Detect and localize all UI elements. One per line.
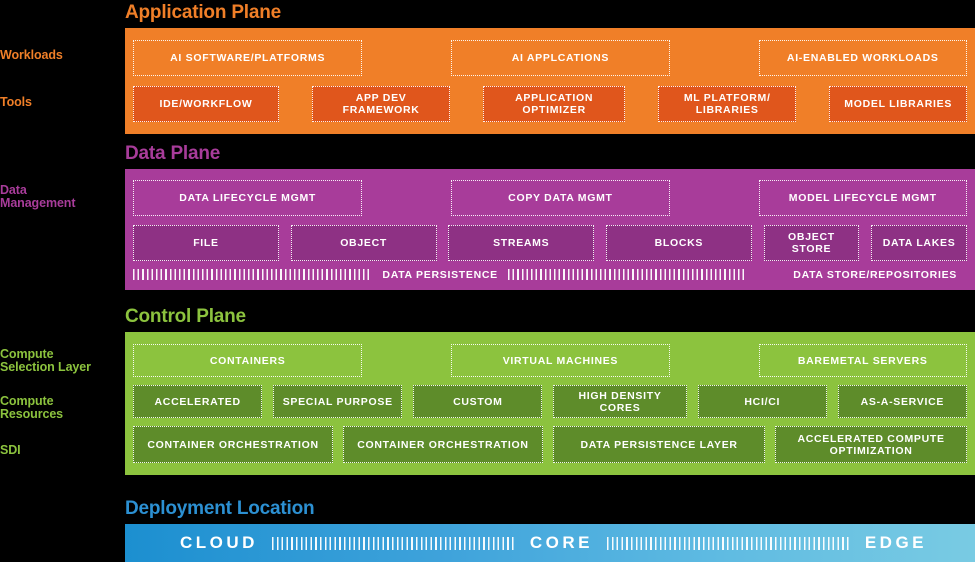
sdi-box-4[interactable]: ACCELERATED COMPUTE OPTIMIZATION <box>775 426 967 463</box>
deployment-location-title: Deployment Location <box>125 498 314 520</box>
compute-resource-box-6[interactable]: AS-A-SERVICE <box>838 385 967 418</box>
rail-label-compute-resources: Compute Resources <box>0 395 63 421</box>
compute-selection-box-2[interactable]: VIRTUAL MACHINES <box>451 344 670 377</box>
control-plane-title: Control Plane <box>125 306 246 328</box>
tool-box-1[interactable]: IDE/WORKFLOW <box>133 86 279 122</box>
data-plane-body: DATA LIFECYCLE MGMTCOPY DATA MGMTMODEL L… <box>125 169 975 290</box>
compute-resource-box-1[interactable]: ACCELERATED <box>133 385 262 418</box>
deployment-location-edge: EDGE <box>851 533 975 553</box>
footer-label-data-store-repositories: DATA STORE/REPOSITORIES <box>747 269 967 281</box>
rail-label-compute-selection-layer: Compute Selection Layer <box>0 348 91 374</box>
sdi-box-2[interactable]: CONTAINER ORCHESTRATION <box>343 426 543 463</box>
workload-box-1[interactable]: AI SOFTWARE/PLATFORMS <box>133 40 362 76</box>
data-management-box-2[interactable]: COPY DATA MGMT <box>451 180 670 216</box>
compute-resource-box-4[interactable]: HIGH DENSITY CORES <box>553 385 686 418</box>
rail-label-tools: Tools <box>0 96 32 109</box>
rail-label-workloads: Workloads <box>0 49 63 62</box>
sdi-row: CONTAINER ORCHESTRATIONCONTAINER ORCHEST… <box>133 426 967 463</box>
compute-selection-box-1[interactable]: CONTAINERS <box>133 344 362 377</box>
compute-selection-row: CONTAINERSVIRTUAL MACHINESBAREMETAL SERV… <box>133 344 967 377</box>
compute-resource-box-2[interactable]: SPECIAL PURPOSE <box>273 385 402 418</box>
tick-rule-core-edge-icon <box>607 537 851 550</box>
data-store-box-1[interactable]: FILE <box>133 225 279 261</box>
control-plane-body: CONTAINERSVIRTUAL MACHINESBAREMETAL SERV… <box>125 332 975 475</box>
data-plane-footer: DATA PERSISTENCE DATA STORE/REPOSITORIES <box>133 263 967 286</box>
rail-label-data-management: Data Management <box>0 184 75 210</box>
deployment-location-cloud: CLOUD <box>125 533 272 553</box>
data-store-box-4[interactable]: BLOCKS <box>606 225 752 261</box>
compute-selection-box-3[interactable]: BAREMETAL SERVERS <box>759 344 968 377</box>
tool-box-4[interactable]: ML PLATFORM/ LIBRARIES <box>658 86 796 122</box>
tick-rule-left-icon <box>133 269 372 280</box>
tick-rule-middle-icon <box>508 269 747 280</box>
compute-resource-box-5[interactable]: HCI/CI <box>698 385 827 418</box>
deployment-location-bar: CLOUD CORE EDGE <box>125 524 975 562</box>
data-store-box-2[interactable]: OBJECT <box>291 225 437 261</box>
data-store-box-3[interactable]: STREAMS <box>448 225 594 261</box>
application-plane-title: Application Plane <box>125 2 281 24</box>
data-management-row: DATA LIFECYCLE MGMTCOPY DATA MGMTMODEL L… <box>133 180 967 216</box>
data-store-box-6[interactable]: DATA LAKES <box>871 225 967 261</box>
workload-box-2[interactable]: AI APPLCATIONS <box>451 40 670 76</box>
tool-box-5[interactable]: MODEL LIBRARIES <box>829 86 967 122</box>
sdi-box-1[interactable]: CONTAINER ORCHESTRATION <box>133 426 333 463</box>
diagram-canvas: Application Plane Workloads Tools AI SOF… <box>0 0 975 562</box>
data-management-box-3[interactable]: MODEL LIFECYCLE MGMT <box>759 180 968 216</box>
data-store-box-5[interactable]: OBJECT STORE <box>764 225 860 261</box>
workload-box-3[interactable]: AI-ENABLED WORKLOADS <box>759 40 968 76</box>
compute-resources-row: ACCELERATEDSPECIAL PURPOSECUSTOMHIGH DEN… <box>133 385 967 418</box>
application-tools-row: IDE/WORKFLOWAPP DEV FRAMEWORKAPPLICATION… <box>133 86 967 122</box>
tool-box-3[interactable]: APPLICATION OPTIMIZER <box>483 86 625 122</box>
data-stores-row: FILEOBJECTSTREAMSBLOCKSOBJECT STOREDATA … <box>133 225 967 261</box>
rail-label-sdi: SDI <box>0 444 21 457</box>
application-plane-body: AI SOFTWARE/PLATFORMSAI APPLCATIONSAI-EN… <box>125 28 975 134</box>
tick-rule-cloud-core-icon <box>272 537 516 550</box>
application-workloads-row: AI SOFTWARE/PLATFORMSAI APPLCATIONSAI-EN… <box>133 40 967 76</box>
compute-resource-box-3[interactable]: CUSTOM <box>413 385 542 418</box>
data-plane-title: Data Plane <box>125 143 220 165</box>
data-management-box-1[interactable]: DATA LIFECYCLE MGMT <box>133 180 362 216</box>
footer-label-data-persistence: DATA PERSISTENCE <box>372 269 507 281</box>
sdi-box-3[interactable]: DATA PERSISTENCE LAYER <box>553 426 766 463</box>
tool-box-2[interactable]: APP DEV FRAMEWORK <box>312 86 450 122</box>
deployment-location-core: CORE <box>516 533 607 553</box>
